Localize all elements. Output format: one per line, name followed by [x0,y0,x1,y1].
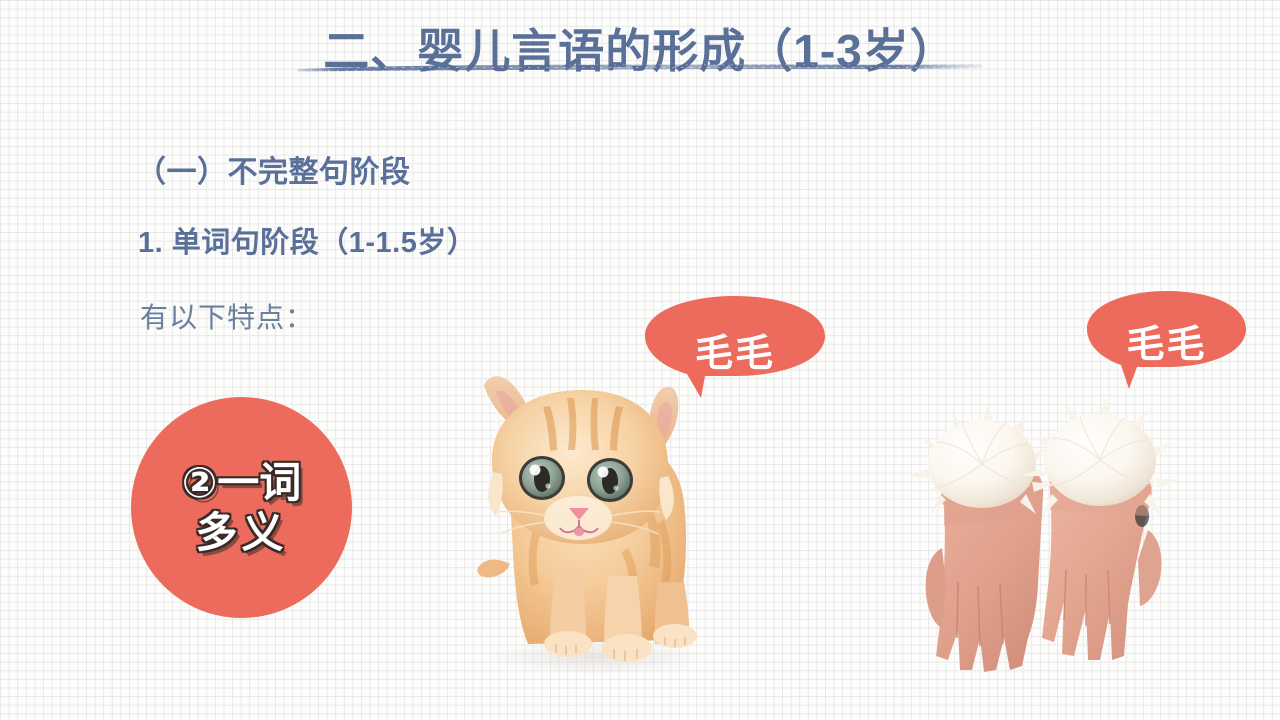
section-heading: （一）不完整句阶段 [136,147,411,191]
feature-badge: ②一词 多义 [131,397,352,618]
kitten-photo [432,352,742,682]
speech-bubble-kitten: 毛毛 [643,294,827,400]
speech-bubble-gloves: 毛毛 [1085,289,1248,391]
speech-bubble-shape [1085,289,1248,391]
gloves-photo [886,398,1196,688]
subsection-heading: 1. 单词句阶段（1-1.5岁） [138,219,476,261]
lead-in-text: 有以下特点： [140,296,314,336]
title-underline-brushstroke [298,62,982,73]
badge-line-1: ②一词 [182,460,302,505]
speech-bubble-shape [643,294,827,400]
badge-line-2: 多义 [195,510,287,555]
slide-canvas: 二、婴儿言语的形成（1-3岁） （一）不完整句阶段 1. 单词句阶段（1-1.5… [0,0,1280,720]
